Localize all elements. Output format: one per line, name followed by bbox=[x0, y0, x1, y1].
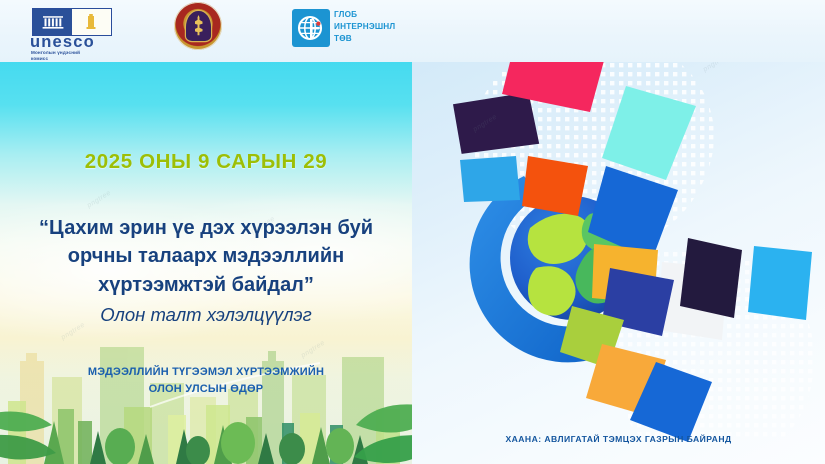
left-panel: 2025 ОНЫ 9 САРЫН 29 “Цахим эрин үе дэх х… bbox=[0, 46, 412, 464]
tile-dark-purple bbox=[453, 92, 540, 154]
event-subtitle: Олон талт хэлэлцүүлэг bbox=[18, 304, 394, 326]
watermark: pngtree bbox=[86, 189, 112, 209]
observance-caption-line-2: ОЛОН УЛСЫН ӨДӨР bbox=[18, 381, 394, 398]
unesco-subtitle-line-2: комисс bbox=[31, 56, 139, 62]
event-title-line-3: хүртээмжтэй байдал” bbox=[18, 271, 394, 299]
tile-light-blue bbox=[460, 156, 520, 202]
observance-caption: МЭДЭЭЛЛИЙН ТҮГЭЭМЭЛ ХҮРТЭЭМЖИЙН ОЛОН УЛС… bbox=[18, 364, 394, 398]
right-panel: ХААНА: АВЛИГАТАЙ ТЭМЦЭХ ГАЗРЫН БАЙРАНД p… bbox=[412, 0, 825, 464]
event-title: “Цахим эрин үе дэх хүрээлэн буй орчны та… bbox=[18, 214, 394, 299]
emblem-ring bbox=[174, 2, 222, 50]
globe-and-tiles-illustration bbox=[412, 0, 825, 464]
greek-temple-icon bbox=[33, 9, 72, 35]
unesco-logo: unesco Монголын үндэсний комисс bbox=[22, 0, 137, 62]
unesco-wordmark: unesco bbox=[30, 34, 135, 51]
unesco-emblem bbox=[32, 8, 112, 36]
glob-international-logo: ГЛОБ ИНТЕРНЭШНЛ ТӨВ bbox=[292, 0, 422, 62]
event-title-line-1: “Цахим эрин үе дэх хүрээлэн буй bbox=[18, 214, 394, 242]
globe-g-icon bbox=[292, 9, 330, 47]
tile-orange-red bbox=[522, 156, 588, 216]
mongolia-state-emblem bbox=[170, 0, 226, 62]
soyombo-icon bbox=[195, 15, 203, 37]
logo-header-band: unesco Монголын үндэсний комисс bbox=[0, 0, 825, 62]
event-date: 2025 ОНЫ 9 САРЫН 29 bbox=[0, 150, 412, 174]
glob-wordmark-line-3: ТӨВ bbox=[334, 33, 395, 45]
observance-caption-line-1: МЭДЭЭЛЛИЙН ТҮГЭЭМЭЛ ХҮРТЭЭМЖИЙН bbox=[18, 364, 394, 381]
emblem-shield bbox=[186, 11, 211, 41]
unesco-subtitle: Монголын үндэсний комисс bbox=[31, 50, 139, 61]
eco-city-skyline-illustration bbox=[0, 339, 412, 464]
venue-line: ХААНА: АВЛИГАТАЙ ТЭМЦЭХ ГАЗРЫН БАЙРАНД bbox=[412, 434, 825, 444]
glob-wordmark: ГЛОБ ИНТЕРНЭШНЛ ТӨВ bbox=[334, 9, 395, 45]
event-title-line-2: орчны талаарх мэдээллийн bbox=[18, 242, 394, 270]
tile-navy bbox=[680, 238, 742, 318]
glob-wordmark-line-2: ИНТЕРНЭШНЛ bbox=[334, 21, 395, 33]
monument-icon bbox=[72, 9, 110, 35]
tile-sky bbox=[748, 246, 812, 320]
poster-canvas: 2025 ОНЫ 9 САРЫН 29 “Цахим эрин үе дэх х… bbox=[0, 0, 825, 464]
glob-wordmark-line-1: ГЛОБ bbox=[334, 9, 395, 21]
